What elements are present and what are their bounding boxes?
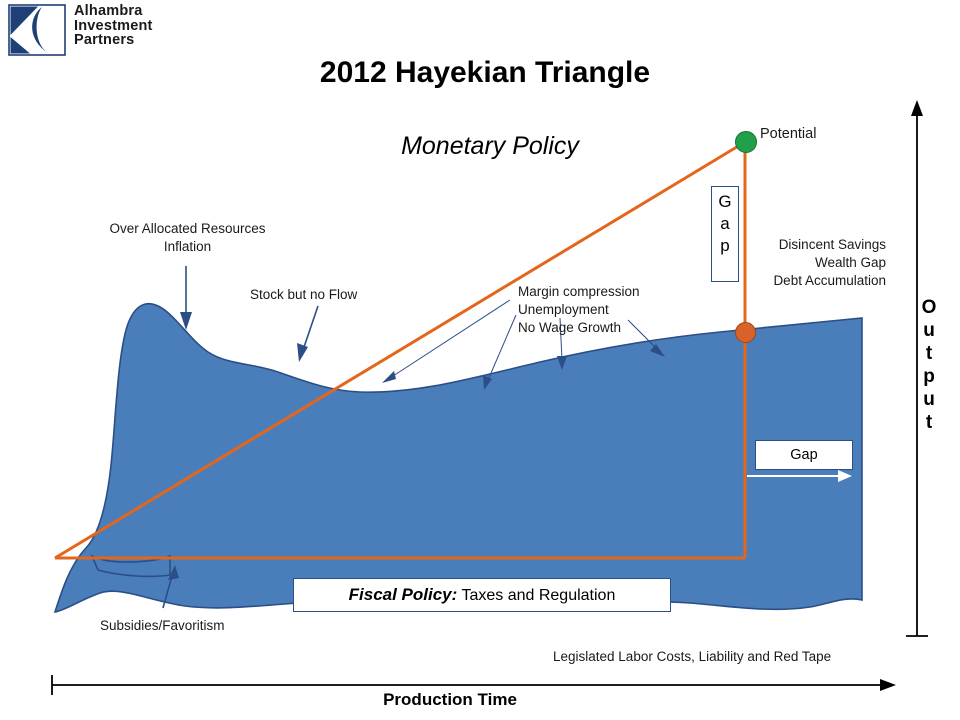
gap-vertical-letter-p: p	[712, 235, 738, 257]
note-no-wage-growth: No Wage Growth	[518, 319, 640, 337]
note-over-allocated-resources: Over Allocated Resources Inflation	[80, 220, 295, 256]
y-axis-label-char-0: O	[916, 296, 942, 319]
x-axis-label: Production Time	[0, 690, 900, 710]
y-axis-label-char-4: u	[916, 388, 942, 411]
production-structure-area	[55, 304, 862, 612]
note-stock-but-no-flow-text: Stock but no Flow	[250, 286, 357, 304]
note-margin-compression-group: Margin compression Unemployment No Wage …	[518, 283, 640, 337]
monetary-policy-text: Monetary Policy	[401, 132, 579, 160]
note-margin-compression: Margin compression	[518, 283, 640, 301]
note-stock-but-no-flow: Stock but no Flow	[250, 286, 357, 304]
gap-vertical-letter-g: G	[712, 191, 738, 213]
fiscal-policy-label: Fiscal Policy: Taxes and Regulation	[293, 578, 671, 612]
y-axis-label-char-3: p	[916, 365, 942, 388]
note-legislated-labor-costs-text: Legislated Labor Costs, Liability and Re…	[553, 648, 831, 666]
potential-output-label-text: Potential	[760, 126, 816, 142]
gap-horizontal-label: Gap	[755, 440, 853, 470]
x-axis-label-text: Production Time	[383, 690, 517, 709]
note-inflation: Inflation	[80, 238, 295, 256]
note-legislated-labor-costs: Legislated Labor Costs, Liability and Re…	[553, 648, 831, 666]
monetary-policy-label: Monetary Policy	[340, 132, 640, 161]
note-unemployment: Unemployment	[518, 301, 640, 319]
gap-horizontal-label-text: Gap	[790, 447, 817, 463]
y-axis-label-char-5: t	[916, 411, 942, 434]
y-axis-label-char-2: t	[916, 342, 942, 365]
actual-output-marker	[735, 322, 756, 343]
fiscal-policy-emphasis: Fiscal Policy:	[349, 585, 458, 604]
note-subsidies-favoritism: Subsidies/Favoritism	[100, 617, 225, 635]
potential-output-marker	[735, 131, 757, 153]
y-axis-label: O u t p u t	[916, 296, 942, 434]
y-axis-label-char-1: u	[916, 319, 942, 342]
arrow-stock-flow	[303, 306, 318, 350]
note-subsidies-favoritism-text: Subsidies/Favoritism	[100, 617, 225, 635]
potential-output-label: Potential	[760, 126, 816, 142]
gap-vertical-letter-a: a	[712, 213, 738, 235]
diagram-graphics	[0, 0, 960, 720]
slide-canvas: Alhambra Investment Partners 2012 Hayeki…	[0, 0, 960, 720]
gap-vertical-label: G a p	[711, 186, 739, 282]
note-over-allocated-line-1: Over Allocated Resources	[80, 220, 295, 238]
fiscal-policy-rest: Taxes and Regulation	[457, 587, 615, 604]
